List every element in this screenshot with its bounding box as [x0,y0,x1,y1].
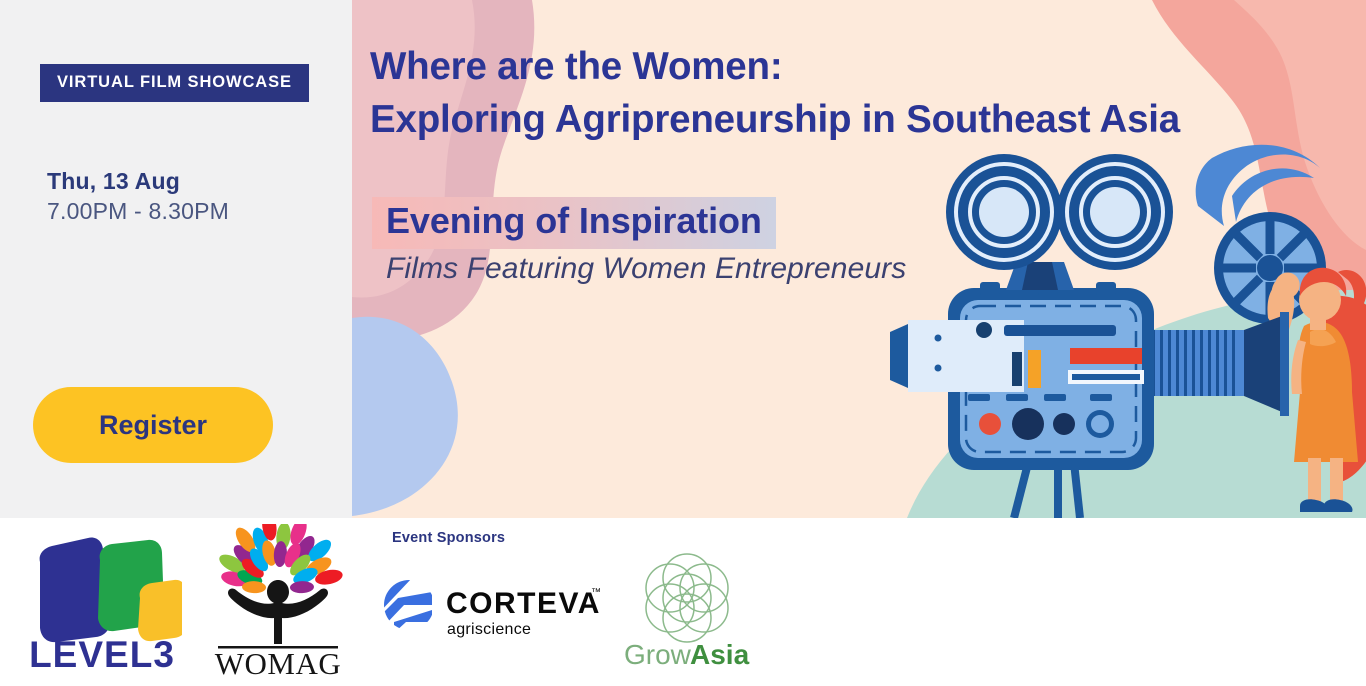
headline-line-2: Exploring Agripreneurship in Southeast A… [370,93,1350,146]
event-time: 7.00PM - 8.30PM [47,198,229,225]
logo-growasia-wordmark-bold: Asia [690,639,750,670]
logo-corteva-tagline: agriscience [447,621,531,638]
projector-reel-right [1057,154,1173,270]
subtitle-highlight: Evening of Inspiration [372,197,776,249]
logo-corteva-wordmark: CORTEVA [446,587,601,620]
headline-line-1: Where are the Women: [370,45,782,88]
logo-womag: WOMAG [204,524,352,681]
subtitle-italic: Films Featuring Women Entrepreneurs [386,252,906,286]
projector-button-red [979,413,1001,435]
footer-logos: LEVEL3 [0,518,1366,686]
page-title: Where are the Women: Exploring Agriprene… [370,40,1350,146]
event-poster: VIRTUAL FILM SHOWCASE Thu, 13 Aug 7.00PM… [0,0,1366,686]
logo-corteva-trademark: ™ [591,587,601,598]
left-info-panel: VIRTUAL FILM SHOWCASE Thu, 13 Aug 7.00PM… [0,0,352,518]
logo-growasia-wordmark-light: Grow [624,639,692,670]
logo-womag-wordmark: WOMAG [215,646,342,676]
projector-reel-left [946,154,1062,270]
register-button[interactable]: Register [33,387,273,463]
subtitle-highlight-wrap: Evening of Inspiration [372,197,776,249]
logo-growasia: Grow Asia [612,552,762,679]
sponsors-label: Event Sponsors [392,530,505,546]
status-badge: VIRTUAL FILM SHOWCASE [40,64,309,102]
womag-figure [228,580,328,644]
hero-panel: Where are the Women: Exploring Agriprene… [352,0,1366,518]
logo-corteva: CORTEVA ™ agriscience [382,576,604,647]
logo-level3-wordmark: LEVEL3 [29,634,175,672]
corteva-mark [382,576,438,634]
poster-hero-area: VIRTUAL FILM SHOWCASE Thu, 13 Aug 7.00PM… [0,0,1366,518]
logo-level3: LEVEL3 [22,532,182,677]
event-date: Thu, 13 Aug [47,168,180,195]
growasia-mark [646,554,728,642]
